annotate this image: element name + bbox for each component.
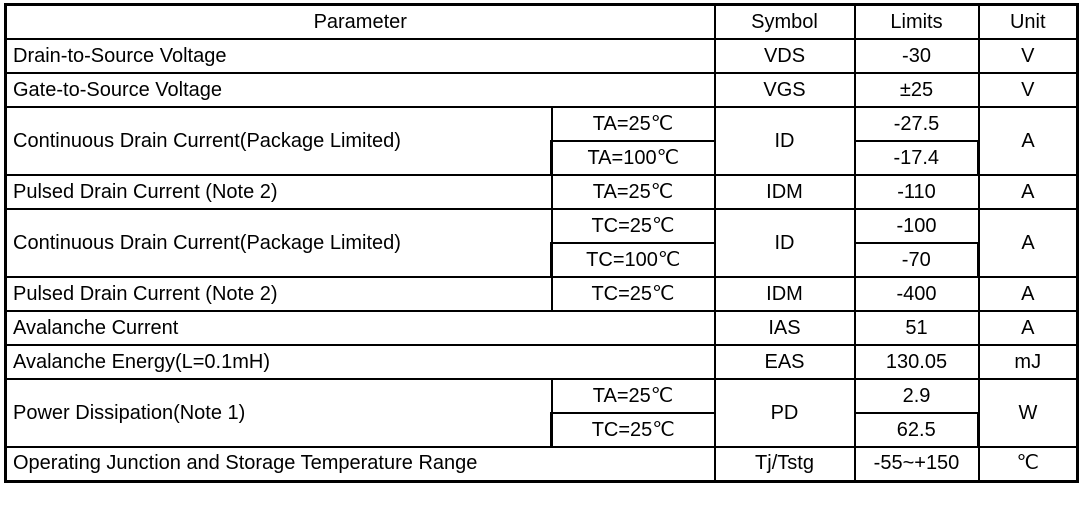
column-header-parameter: Parameter (6, 5, 715, 40)
cell-condition: TC=25℃ (552, 209, 715, 243)
table-row: Avalanche Current IAS 51 A (6, 311, 1078, 345)
cell-unit: A (979, 209, 1078, 277)
absolute-maximum-ratings-table: Parameter Symbol Limits Unit Drain-to-So… (4, 3, 1079, 483)
table-row: Continuous Drain Current(Package Limited… (6, 209, 1078, 243)
cell-parameter: Pulsed Drain Current (Note 2) (6, 277, 552, 311)
cell-condition: TA=100℃ (552, 141, 715, 175)
table-header-row: Parameter Symbol Limits Unit (6, 5, 1078, 40)
cell-parameter: Power Dissipation(Note 1) (6, 379, 552, 447)
cell-condition: TC=100℃ (552, 243, 715, 277)
cell-unit: A (979, 277, 1078, 311)
cell-condition: TC=25℃ (552, 413, 715, 447)
cell-symbol: IAS (715, 311, 855, 345)
cell-unit: A (979, 107, 1078, 175)
cell-parameter: Continuous Drain Current(Package Limited… (6, 107, 552, 175)
cell-parameter: Drain-to-Source Voltage (6, 39, 715, 73)
cell-limits: -400 (855, 277, 979, 311)
cell-symbol: ID (715, 107, 855, 175)
cell-unit: ℃ (979, 447, 1078, 481)
table-row: Gate-to-Source Voltage VGS ±25 V (6, 73, 1078, 107)
table-row: Operating Junction and Storage Temperatu… (6, 447, 1078, 481)
cell-limits: -17.4 (855, 141, 979, 175)
cell-symbol: VDS (715, 39, 855, 73)
cell-limits: -70 (855, 243, 979, 277)
cell-unit: V (979, 73, 1078, 107)
cell-unit: mJ (979, 345, 1078, 379)
cell-condition: TA=25℃ (552, 175, 715, 209)
cell-limits: -30 (855, 39, 979, 73)
cell-condition: TA=25℃ (552, 107, 715, 141)
cell-parameter: Pulsed Drain Current (Note 2) (6, 175, 552, 209)
cell-limits: -100 (855, 209, 979, 243)
column-header-unit: Unit (979, 5, 1078, 40)
cell-limits: ±25 (855, 73, 979, 107)
cell-limits: -110 (855, 175, 979, 209)
cell-symbol: PD (715, 379, 855, 447)
absolute-maximum-ratings-sheet: Parameter Symbol Limits Unit Drain-to-So… (0, 0, 1080, 526)
cell-limits: -27.5 (855, 107, 979, 141)
cell-parameter: Operating Junction and Storage Temperatu… (6, 447, 715, 481)
table-row: Continuous Drain Current(Package Limited… (6, 107, 1078, 141)
cell-limits: 2.9 (855, 379, 979, 413)
cell-limits: 130.05 (855, 345, 979, 379)
cell-parameter: Avalanche Current (6, 311, 715, 345)
table-row: Pulsed Drain Current (Note 2) TC=25℃ IDM… (6, 277, 1078, 311)
cell-symbol: IDM (715, 277, 855, 311)
cell-condition: TA=25℃ (552, 379, 715, 413)
cell-limits: 51 (855, 311, 979, 345)
table-row: Pulsed Drain Current (Note 2) TA=25℃ IDM… (6, 175, 1078, 209)
cell-symbol: ID (715, 209, 855, 277)
cell-symbol: IDM (715, 175, 855, 209)
cell-unit: V (979, 39, 1078, 73)
cell-unit: W (979, 379, 1078, 447)
table-row: Avalanche Energy(L=0.1mH) EAS 130.05 mJ (6, 345, 1078, 379)
cell-limits: 62.5 (855, 413, 979, 447)
cell-symbol: EAS (715, 345, 855, 379)
cell-parameter: Gate-to-Source Voltage (6, 73, 715, 107)
cell-condition: TC=25℃ (552, 277, 715, 311)
cell-limits: -55~+150 (855, 447, 979, 481)
column-header-symbol: Symbol (715, 5, 855, 40)
cell-parameter: Avalanche Energy(L=0.1mH) (6, 345, 715, 379)
cell-symbol: VGS (715, 73, 855, 107)
cell-parameter: Continuous Drain Current(Package Limited… (6, 209, 552, 277)
cell-unit: A (979, 175, 1078, 209)
table-row: Power Dissipation(Note 1) TA=25℃ PD 2.9 … (6, 379, 1078, 413)
table-row: Drain-to-Source Voltage VDS -30 V (6, 39, 1078, 73)
column-header-limits: Limits (855, 5, 979, 40)
cell-unit: A (979, 311, 1078, 345)
cell-symbol: Tj/Tstg (715, 447, 855, 481)
